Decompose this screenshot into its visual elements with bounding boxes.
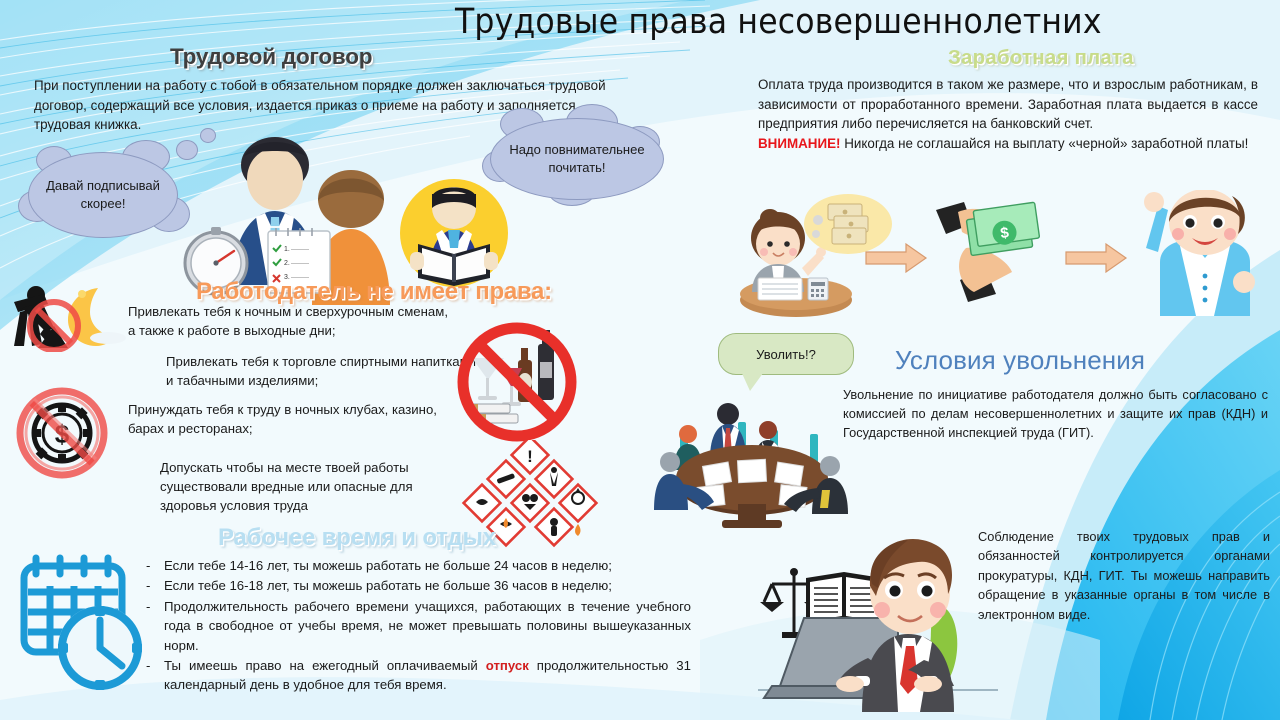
- section-heading-worktime: Рабочее время и отдых: [218, 524, 496, 552]
- worktime-list: - Если тебе 14-16 лет, ты можешь работат…: [146, 556, 691, 696]
- prohibition-item: Принуждать тебя к труду в ночных клубах,…: [128, 400, 448, 438]
- svg-text:———: ———: [291, 261, 309, 267]
- commission-meeting-illustration: [652, 378, 852, 528]
- oversight-text-block: Соблюдение твоих трудовых прав и обязанн…: [978, 527, 1270, 624]
- attention-text: Никогда не соглашайся на выплату «черной…: [844, 136, 1248, 151]
- lawyer-laptop-illustration: [758, 508, 998, 713]
- worktime-vacation-item: Ты имеешь право на ежегодный оплачиваемы…: [164, 656, 691, 695]
- svg-text:!: !: [527, 447, 533, 466]
- prohibition-item: Привлекать тебя к ночным и сверхурочным …: [128, 302, 458, 340]
- list-item: - Ты имеешь право на ежегодный оплачивае…: [146, 656, 691, 695]
- speech-bubble-employer: Давай подписывай скорее!: [28, 152, 178, 238]
- vacation-word: отпуск: [486, 658, 529, 673]
- no-alcohol-tobacco-icon: [452, 322, 582, 452]
- svg-text:1.: 1.: [284, 246, 290, 253]
- speech-bubble-teen: Надо повнимательнее почитать!: [490, 118, 664, 200]
- no-night-work-icon: [2, 282, 128, 352]
- list-item: - Продолжительность рабочего времени уча…: [146, 597, 691, 655]
- prohibition-item: Привлекать тебя к торговле спиртными нап…: [166, 352, 476, 390]
- salary-text-block: Оплата труда производится в таком же раз…: [758, 75, 1258, 154]
- calendar-clock-icon: [10, 540, 150, 700]
- list-item: - Если тебе 14-16 лет, ты можешь работат…: [146, 556, 691, 575]
- speech-bubble-dismissal: Уволить!?: [718, 333, 854, 375]
- vacation-prefix: Ты имеешь право на ежегодный оплачиваемы…: [164, 658, 486, 673]
- salary-text: Оплата труда производится в таком же раз…: [758, 77, 1258, 131]
- no-casino-icon: $: [14, 385, 110, 481]
- section-heading-contract: Трудовой договор: [170, 44, 470, 70]
- reading-boy-illustration: [396, 178, 512, 288]
- worktime-item: Если тебе 14-16 лет, ты можешь работать …: [164, 556, 691, 575]
- svg-text:2.: 2.: [284, 260, 290, 267]
- svg-text:———: ———: [291, 247, 309, 253]
- section-heading-dismissal: Условия увольнения: [895, 345, 1145, 376]
- list-item: - Если тебе 16-18 лет, ты можешь работат…: [146, 576, 691, 595]
- salary-illustration: $: [736, 190, 1266, 320]
- page-title: Трудовые права несовершеннолетних: [455, 2, 1255, 42]
- dismissal-text: Увольнение по инициативе работодателя до…: [843, 385, 1268, 443]
- worktime-item: Продолжительность рабочего времени учащи…: [164, 597, 691, 655]
- attention-label: ВНИМАНИЕ!: [758, 136, 840, 151]
- prohibition-item: Допускать чтобы на месте твоей работы су…: [160, 458, 470, 515]
- worktime-item: Если тебе 16-18 лет, ты можешь работать …: [164, 576, 691, 595]
- poster-canvas: Трудовые права несовершеннолетних Трудов…: [0, 0, 1280, 720]
- section-heading-salary: Заработная плата: [948, 46, 1134, 70]
